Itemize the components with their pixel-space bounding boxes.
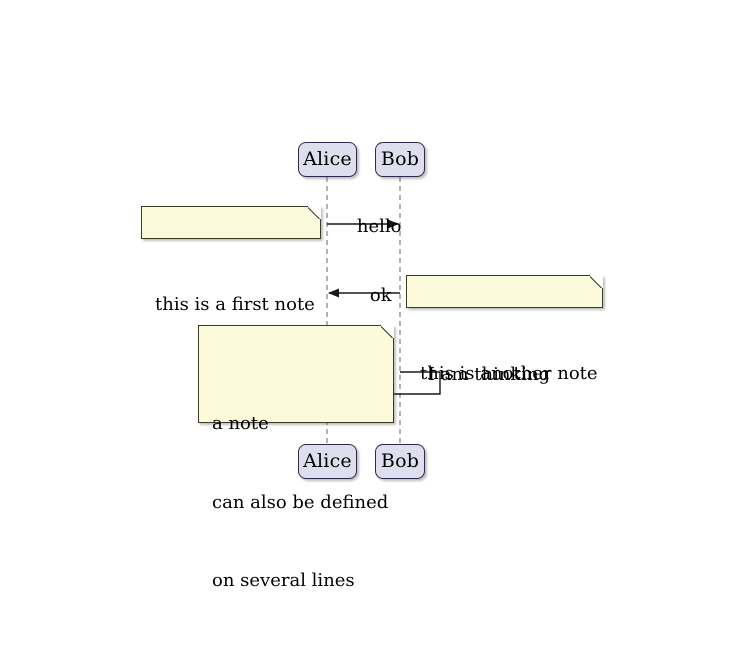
message-label-hello: hello xyxy=(334,200,402,254)
note-multiline-note[interactable]: a note can also be defined on several li… xyxy=(198,325,394,423)
participant-bob-top[interactable]: Bob xyxy=(375,142,425,177)
participant-label: Bob xyxy=(381,452,419,471)
message-label-text: I am thinking xyxy=(428,364,550,385)
note-fold-icon xyxy=(381,325,394,338)
message-label-ok: ok xyxy=(347,269,392,323)
message-label-thinking: I am thinking xyxy=(405,348,550,402)
message-label-text: ok xyxy=(370,285,392,306)
sequence-diagram: Alice Bob Alice Bob this is a first note… xyxy=(0,0,746,620)
note-fold-icon xyxy=(590,275,603,288)
participant-label: Bob xyxy=(381,150,419,169)
note-another-note[interactable]: this is another note xyxy=(406,275,603,308)
note-line: can also be defined xyxy=(212,490,380,516)
participant-label: Alice xyxy=(303,150,352,169)
participant-bob-bottom[interactable]: Bob xyxy=(375,444,425,479)
note-first-note[interactable]: this is a first note xyxy=(141,206,321,239)
message-label-text: hello xyxy=(357,216,402,237)
note-line: on several lines xyxy=(212,568,380,594)
note-fold-icon xyxy=(308,206,321,219)
note-line: a note xyxy=(212,411,380,437)
note-line: this is a first note xyxy=(155,292,307,318)
participant-alice-top[interactable]: Alice xyxy=(298,142,357,177)
